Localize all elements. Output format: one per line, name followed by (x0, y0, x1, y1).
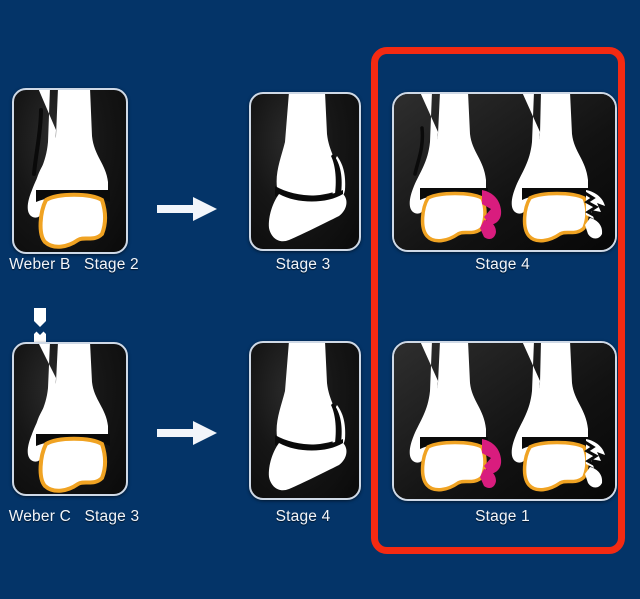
xray-card-weber-c-stage-1[interactable] (392, 341, 617, 501)
xray-card-weber-b-stage-4[interactable] (392, 92, 617, 252)
xray-image-weber-c-stage-1 (394, 343, 615, 499)
xray-image-weber-b-stage-2 (14, 90, 126, 252)
caption-weber-b-stage-3: Stage 3 (239, 256, 367, 274)
tibia-bone-lateral (277, 343, 339, 445)
xray-card-weber-b-stage-3[interactable] (249, 92, 361, 251)
caption-weber-b-stage-4: Stage 4 (392, 256, 613, 274)
xray-image-weber-c-stage-4 (251, 343, 359, 498)
arrow-right-icon (157, 418, 219, 448)
caption-weber-c-stage-4: Stage 4 (239, 508, 367, 526)
xray-image-weber-b-stage-3 (251, 94, 359, 249)
xray-card-weber-b-stage-2[interactable] (12, 88, 128, 254)
fibula-fracture-line (34, 110, 41, 174)
xray-image-weber-b-stage-4 (394, 94, 615, 250)
talus-bone (41, 195, 105, 247)
figure-root: Weber B Stage 2 Stage 3 (0, 0, 640, 599)
arrow-right-icon (157, 194, 219, 224)
caption-weber-c-stage-1: Stage 1 (392, 508, 613, 526)
caption-weber-c-stage-3: Weber C Stage 3 (0, 508, 148, 526)
xray-card-weber-c-stage-3[interactable] (12, 342, 128, 496)
talus-bone (41, 439, 105, 491)
xray-image-weber-c-stage-3 (14, 344, 126, 494)
tibia-bone-lateral (277, 94, 339, 196)
caption-weber-b-stage-2: Weber B Stage 2 (0, 256, 148, 274)
xray-card-weber-c-stage-4[interactable] (249, 341, 361, 500)
arrow-weber-b (157, 194, 219, 224)
arrow-weber-c (157, 418, 219, 448)
